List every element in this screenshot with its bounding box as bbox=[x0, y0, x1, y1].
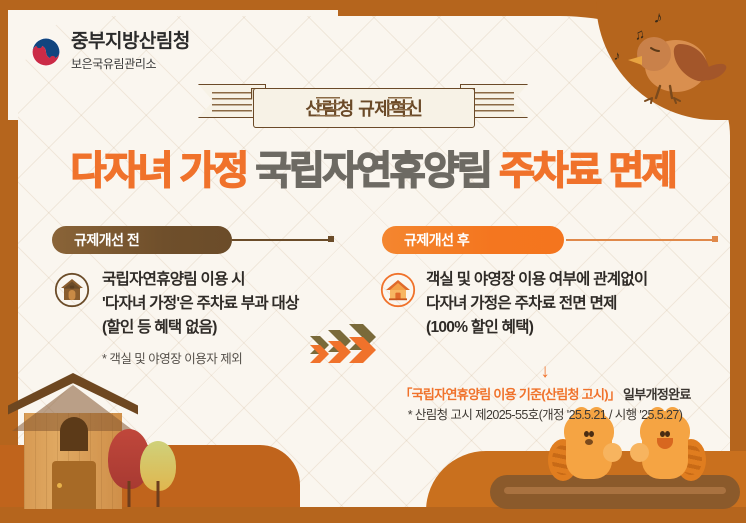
connector-line-before bbox=[232, 239, 330, 241]
yellow-tree-icon bbox=[140, 441, 176, 507]
arrow-down-icon: ↓ bbox=[380, 362, 710, 381]
taegeuk-icon bbox=[30, 36, 62, 68]
house-brown-icon bbox=[54, 272, 90, 308]
badge-before: 규제개선 전 bbox=[52, 226, 232, 254]
singing-bird-icon bbox=[618, 24, 728, 104]
before-line-2: '다자녀 가정'은 주차료 부과 대상 bbox=[102, 292, 354, 316]
title-part-2: 국립자연휴양림 bbox=[255, 150, 490, 193]
title-part-1: 다자녀 가정 bbox=[70, 150, 246, 193]
house-orange-icon bbox=[380, 272, 416, 308]
agency-logo: 중부지방산림청 보은국유림관리소 bbox=[30, 32, 190, 72]
after-line-3: (100% 할인 혜택) bbox=[426, 316, 710, 340]
after-line-2: 다자녀 가정은 주차료 전면 면제 bbox=[426, 292, 710, 316]
connector-dot-before bbox=[328, 236, 334, 242]
ground-base-bar bbox=[0, 507, 746, 523]
triple-chevron-right-icon bbox=[300, 322, 380, 374]
badge-after: 규제개선 후 bbox=[382, 226, 564, 254]
office-name: 보은국유림관리소 bbox=[71, 55, 190, 72]
after-column: 객실 및 야영장 이용 여부에 관계없이 다자녀 가정은 주차료 전면 면제 (… bbox=[380, 268, 710, 340]
connector-line-after bbox=[566, 239, 716, 241]
after-line-1: 객실 및 야영장 이용 여부에 관계없이 bbox=[426, 268, 710, 292]
badge-before-label: 규제개선 전 bbox=[74, 230, 139, 250]
ribbon-banner: 산림청 규제혁신 bbox=[198, 84, 528, 132]
connector-dot-after bbox=[712, 236, 718, 242]
poster-canvas: 중부지방산림청 보은국유림관리소 ♪ ♫ ♪ 산림청 규제혁신 bbox=[0, 0, 746, 523]
badge-after-label: 규제개선 후 bbox=[404, 230, 469, 250]
title-part-3: 주차료 면제 bbox=[499, 150, 675, 193]
before-line-1: 국립자연휴양림 이용 시 bbox=[102, 268, 354, 292]
page-title: 다자녀 가정 국립자연휴양림 주차료 면제 bbox=[0, 140, 746, 196]
agency-name: 중부지방산림청 bbox=[71, 32, 190, 53]
revision-suffix: 일부개정완료 bbox=[620, 387, 690, 402]
revision-statement: 「국립자연휴양림 이용 기준(산림청 고시)」 일부개정완료 bbox=[375, 384, 715, 403]
revision-highlight: 「국립자연휴양림 이용 기준(산림청 고시)」 bbox=[399, 387, 620, 402]
revision-footnote: * 산림청 고시 제2025-55호(개정 '25.5.21 / 시행 '25.… bbox=[375, 404, 715, 423]
